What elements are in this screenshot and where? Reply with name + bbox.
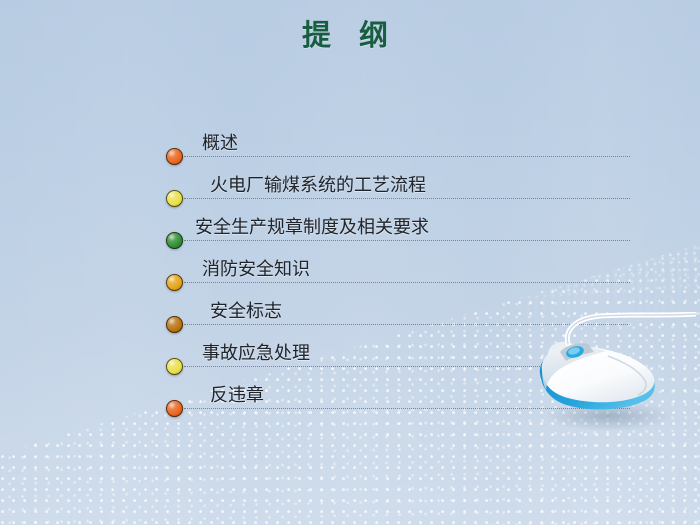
mouse-shadow (544, 401, 672, 431)
outline-item[interactable]: 事故应急处理 (166, 332, 486, 374)
outline-leader-line (184, 366, 630, 367)
outline-item-label: 事故应急处理 (202, 339, 310, 365)
scroll-wheel (565, 344, 585, 360)
outline-leader-line (184, 282, 630, 283)
bullet-green-icon (166, 232, 183, 249)
outline-item[interactable]: 安全生产规章制度及相关要求 (166, 206, 486, 248)
mouse-body (542, 346, 655, 402)
bullet-yellow-icon (166, 190, 183, 207)
outline-list: 概述火电厂输煤系统的工艺流程安全生产规章制度及相关要求消防安全知识安全标志事故应… (166, 122, 486, 416)
page-title: 提 纲 (0, 12, 700, 54)
outline-leader-line (184, 324, 630, 325)
outline-item-label: 消防安全知识 (202, 255, 310, 281)
bullet-orange-icon (166, 148, 183, 165)
outline-item[interactable]: 安全标志 (166, 290, 486, 332)
bullet-amber-icon (166, 274, 183, 291)
computer-mouse-illustration (516, 312, 696, 442)
bullet-orange-icon (166, 400, 183, 417)
outline-item-label: 安全标志 (210, 297, 282, 323)
bullet-dark-amber-icon (166, 316, 183, 333)
outline-leader-line (184, 156, 630, 157)
outline-leader-line (184, 198, 630, 199)
outline-item-label: 反违章 (210, 381, 264, 407)
outline-item[interactable]: 消防安全知识 (166, 248, 486, 290)
mouse-cable (567, 314, 696, 344)
outline-item-label: 火电厂输煤系统的工艺流程 (210, 171, 426, 197)
mouse-cable-shade (567, 314, 696, 344)
outline-item[interactable]: 火电厂输煤系统的工艺流程 (166, 164, 486, 206)
outline-item[interactable]: 概述 (166, 122, 486, 164)
mouse-body-contour (608, 356, 646, 395)
mouse-left-button (542, 346, 606, 390)
outline-item[interactable]: 反违章 (166, 374, 486, 416)
mouse-blue-base (540, 348, 655, 409)
bullet-yellow-icon (166, 358, 183, 375)
outline-leader-line (184, 408, 630, 409)
mouse-cable-shroud (548, 342, 596, 357)
outline-item-label: 安全生产规章制度及相关要求 (195, 213, 429, 239)
outline-item-label: 概述 (202, 129, 238, 155)
mouse-top-seam (560, 343, 594, 361)
mouse-svg (516, 312, 696, 442)
outline-leader-line (184, 240, 630, 241)
scroll-wheel-highlight (567, 346, 580, 356)
slide-canvas: 提 纲 概述火电厂输煤系统的工艺流程安全生产规章制度及相关要求消防安全知识安全标… (0, 0, 700, 525)
